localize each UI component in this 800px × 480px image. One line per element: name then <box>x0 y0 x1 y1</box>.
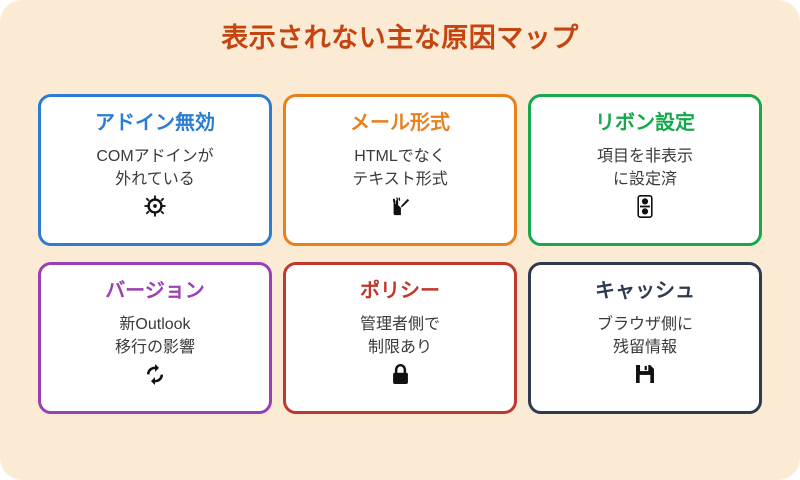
card-title: キャッシュ <box>595 279 695 304</box>
refresh-arrows-icon <box>144 363 166 386</box>
floppy-disk-icon <box>634 363 656 385</box>
card-title: メール形式 <box>350 111 450 136</box>
cause-card-version[interactable]: バージョン 新Outlook 移行の影響 <box>38 262 272 414</box>
traffic-light-icon <box>637 195 653 218</box>
writing-hand-icon <box>389 195 411 217</box>
page-title: 表示されない主な原因マップ <box>0 22 800 54</box>
card-body: 項目を非表示 に設定済 <box>597 146 693 191</box>
card-body: HTMLでなく テキスト形式 <box>352 146 448 191</box>
card-body: ブラウザ側に 残留情報 <box>597 314 693 359</box>
infographic-canvas: 表示されない主な原因マップ アドイン無効 COMアドインが 外れている <box>0 0 800 480</box>
cause-card-mail-format[interactable]: メール形式 HTMLでなく テキスト形式 <box>283 94 517 246</box>
card-title: リボン設定 <box>595 111 695 136</box>
gear-icon <box>144 195 166 217</box>
card-body: COMアドインが 外れている <box>96 146 213 191</box>
cause-card-policy[interactable]: ポリシー 管理者側で 制限あり <box>283 262 517 414</box>
lock-icon <box>391 363 410 386</box>
card-body: 新Outlook 移行の影響 <box>115 314 195 359</box>
card-body: 管理者側で 制限あり <box>360 314 440 359</box>
cause-card-addin-disabled[interactable]: アドイン無効 COMアドインが 外れている <box>38 94 272 246</box>
cause-card-ribbon-settings[interactable]: リボン設定 項目を非表示 に設定済 <box>528 94 762 246</box>
cause-card-cache[interactable]: キャッシュ ブラウザ側に 残留情報 <box>528 262 762 414</box>
card-title: アドイン無効 <box>95 111 215 136</box>
card-title: ポリシー <box>360 279 440 304</box>
cause-card-grid: アドイン無効 COMアドインが 外れている <box>38 94 762 414</box>
card-title: バージョン <box>105 279 205 304</box>
